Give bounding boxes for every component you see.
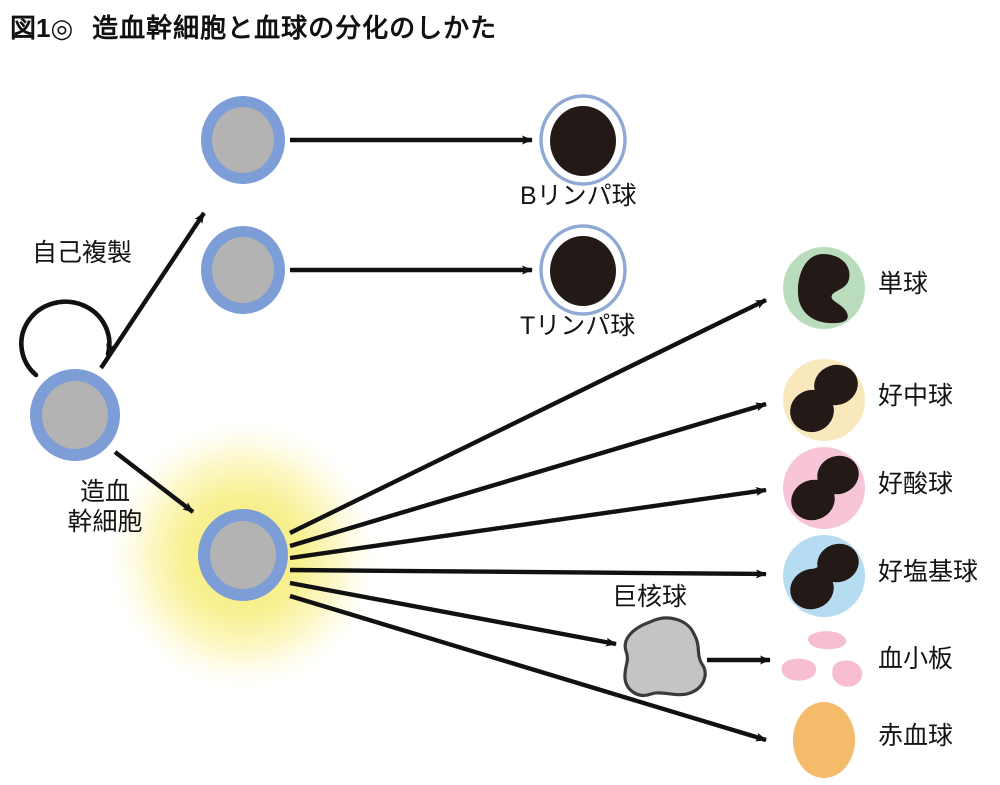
label-platelet: 血小板 xyxy=(878,645,953,675)
self-renewal-arrow xyxy=(21,302,109,375)
label-self-renewal: 自己複製 xyxy=(32,239,132,269)
figure-root: 図1◎造血幹細胞と血球の分化のしかた xyxy=(0,0,1000,785)
label-hematopoietic-stem-cell: 造血 幹細胞 xyxy=(55,478,155,537)
label-neutrophil: 好中球 xyxy=(878,382,953,412)
cell-monocyte xyxy=(783,247,865,329)
label-megakaryocyte: 巨核球 xyxy=(612,583,687,613)
cell-hematopoietic-stem xyxy=(30,369,120,461)
cell-neutrophil xyxy=(783,359,865,441)
cell-platelet xyxy=(782,631,863,687)
cell-megakaryocyte xyxy=(625,618,705,695)
label-b-lymphocyte: Bリンパ球 xyxy=(520,182,637,212)
label-eosinophil: 好酸球 xyxy=(878,470,953,500)
cell-committed-stem xyxy=(198,509,288,601)
cell-b-progenitor xyxy=(201,96,285,184)
label-t-lymphocyte: Tリンパ球 xyxy=(520,312,635,342)
label-stem-line2: 幹細胞 xyxy=(67,508,142,536)
cell-b-lymphocyte xyxy=(541,96,625,184)
label-basophil: 好塩基球 xyxy=(878,558,978,588)
cell-eosinophil xyxy=(783,447,865,529)
cell-t-lymphocyte xyxy=(541,226,625,314)
cell-erythrocyte xyxy=(793,702,855,778)
label-erythrocyte: 赤血球 xyxy=(878,722,953,752)
label-stem-line1: 造血 xyxy=(80,478,130,506)
arrow-stem-to-lymphoid xyxy=(101,213,204,368)
cell-basophil xyxy=(783,535,865,617)
diagram-canvas xyxy=(0,0,1000,785)
cell-t-progenitor xyxy=(201,226,285,314)
label-monocyte: 単球 xyxy=(878,270,928,300)
